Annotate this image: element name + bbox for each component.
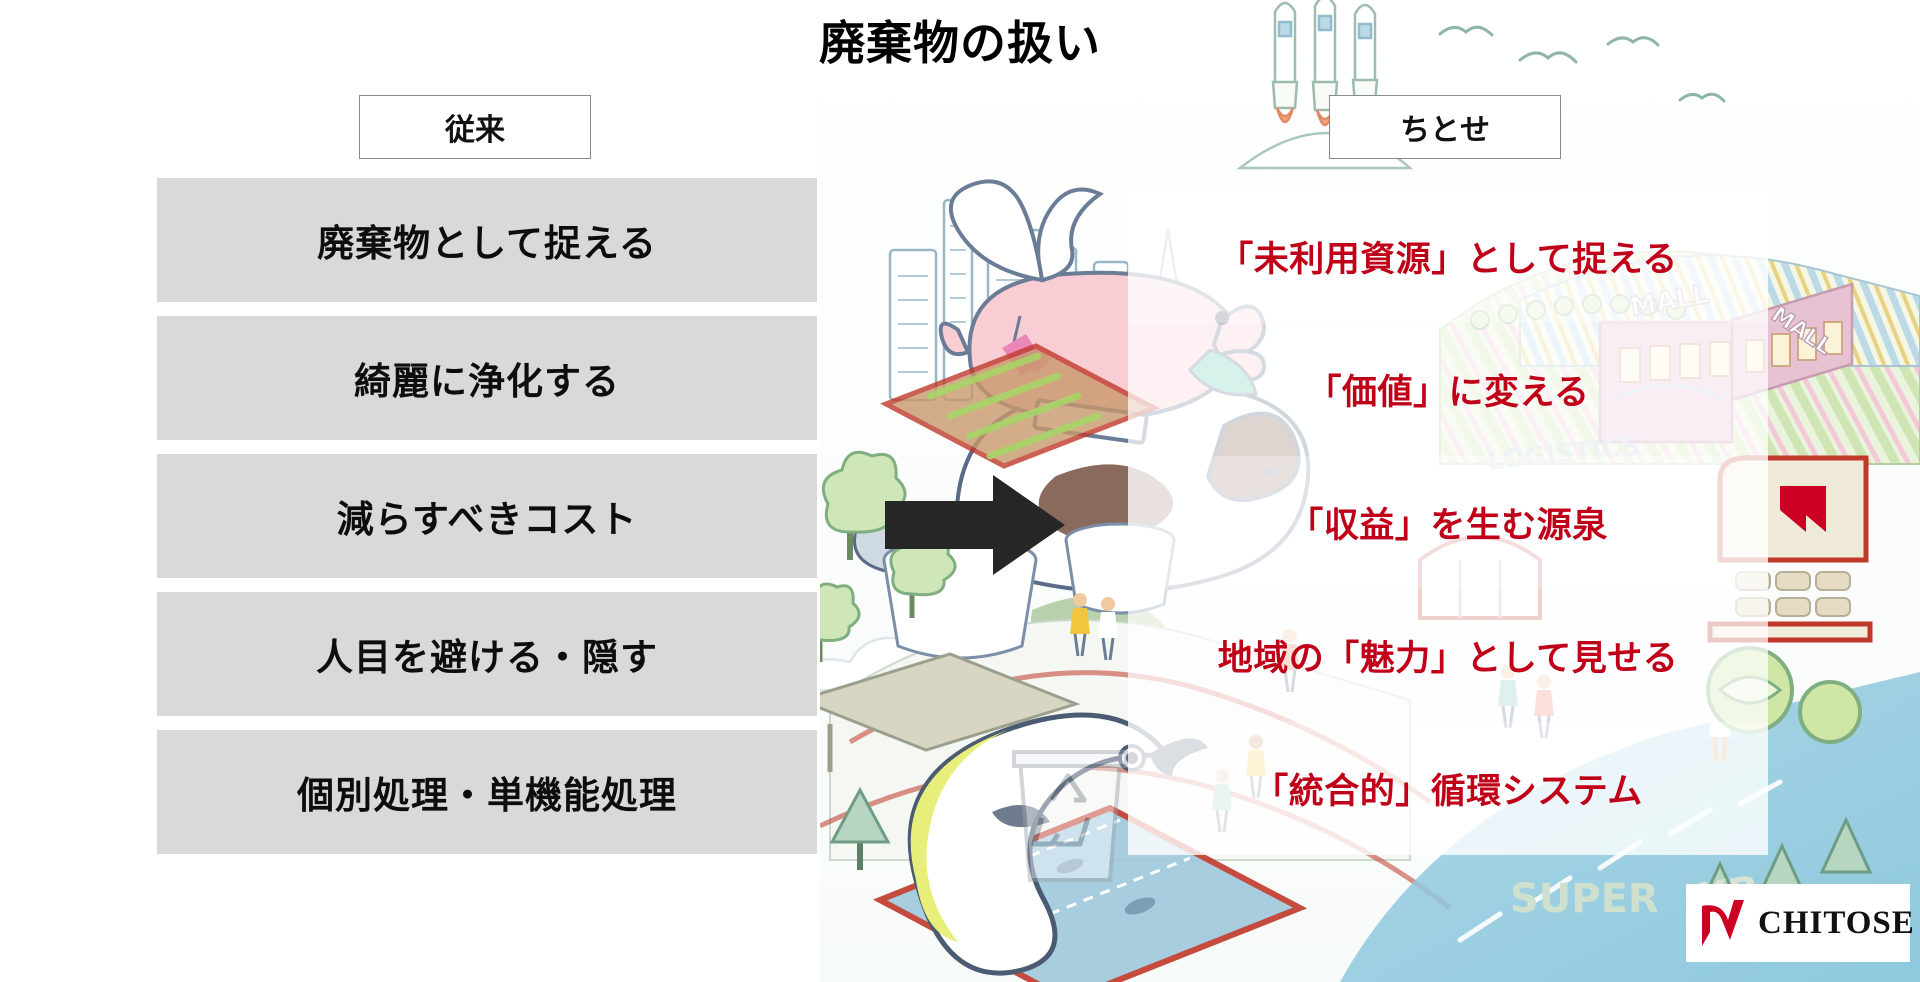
chitose-logo: CHITOSE <box>1686 884 1910 962</box>
recycle-bin <box>1014 752 1126 880</box>
column-header-chitose: ちとせ <box>1329 95 1561 159</box>
chitose-wordmark: CHITOSE <box>1758 905 1915 942</box>
page-title: 廃棄物の扱い <box>0 18 1920 69</box>
slide-canvas: MALL MALL <box>0 0 1920 982</box>
conventional-row: 綺麗に浄化する <box>157 316 817 440</box>
transformation-arrow-icon <box>885 475 1065 575</box>
conventional-row: 人目を避ける・隠す <box>157 592 817 716</box>
chitose-row: 地域の「魅力」として見せる <box>1128 589 1768 722</box>
conventional-row: 個別処理・単機能処理 <box>157 730 817 854</box>
column-header-conventional: 従来 <box>359 95 591 159</box>
conventional-column: 廃棄物として捉える 綺麗に浄化する 減らすべきコスト 人目を避ける・隠す 個別処… <box>157 178 817 868</box>
chitose-row: 「収益」を生む源泉 <box>1128 456 1768 589</box>
chitose-row: 「価値」に変える <box>1128 323 1768 456</box>
conventional-row: 廃棄物として捉える <box>157 178 817 302</box>
conventional-row: 減らすべきコスト <box>157 454 817 578</box>
chitose-row: 「未利用資源」として捉える <box>1128 190 1768 323</box>
chitose-row: 「統合的」循環システム <box>1128 722 1768 855</box>
chitose-mark-icon <box>1700 898 1746 948</box>
super-sign: SUPER <box>1510 876 1659 922</box>
chitose-column: 「未利用資源」として捉える 「価値」に変える 「収益」を生む源泉 地域の「魅力」… <box>1128 190 1768 855</box>
